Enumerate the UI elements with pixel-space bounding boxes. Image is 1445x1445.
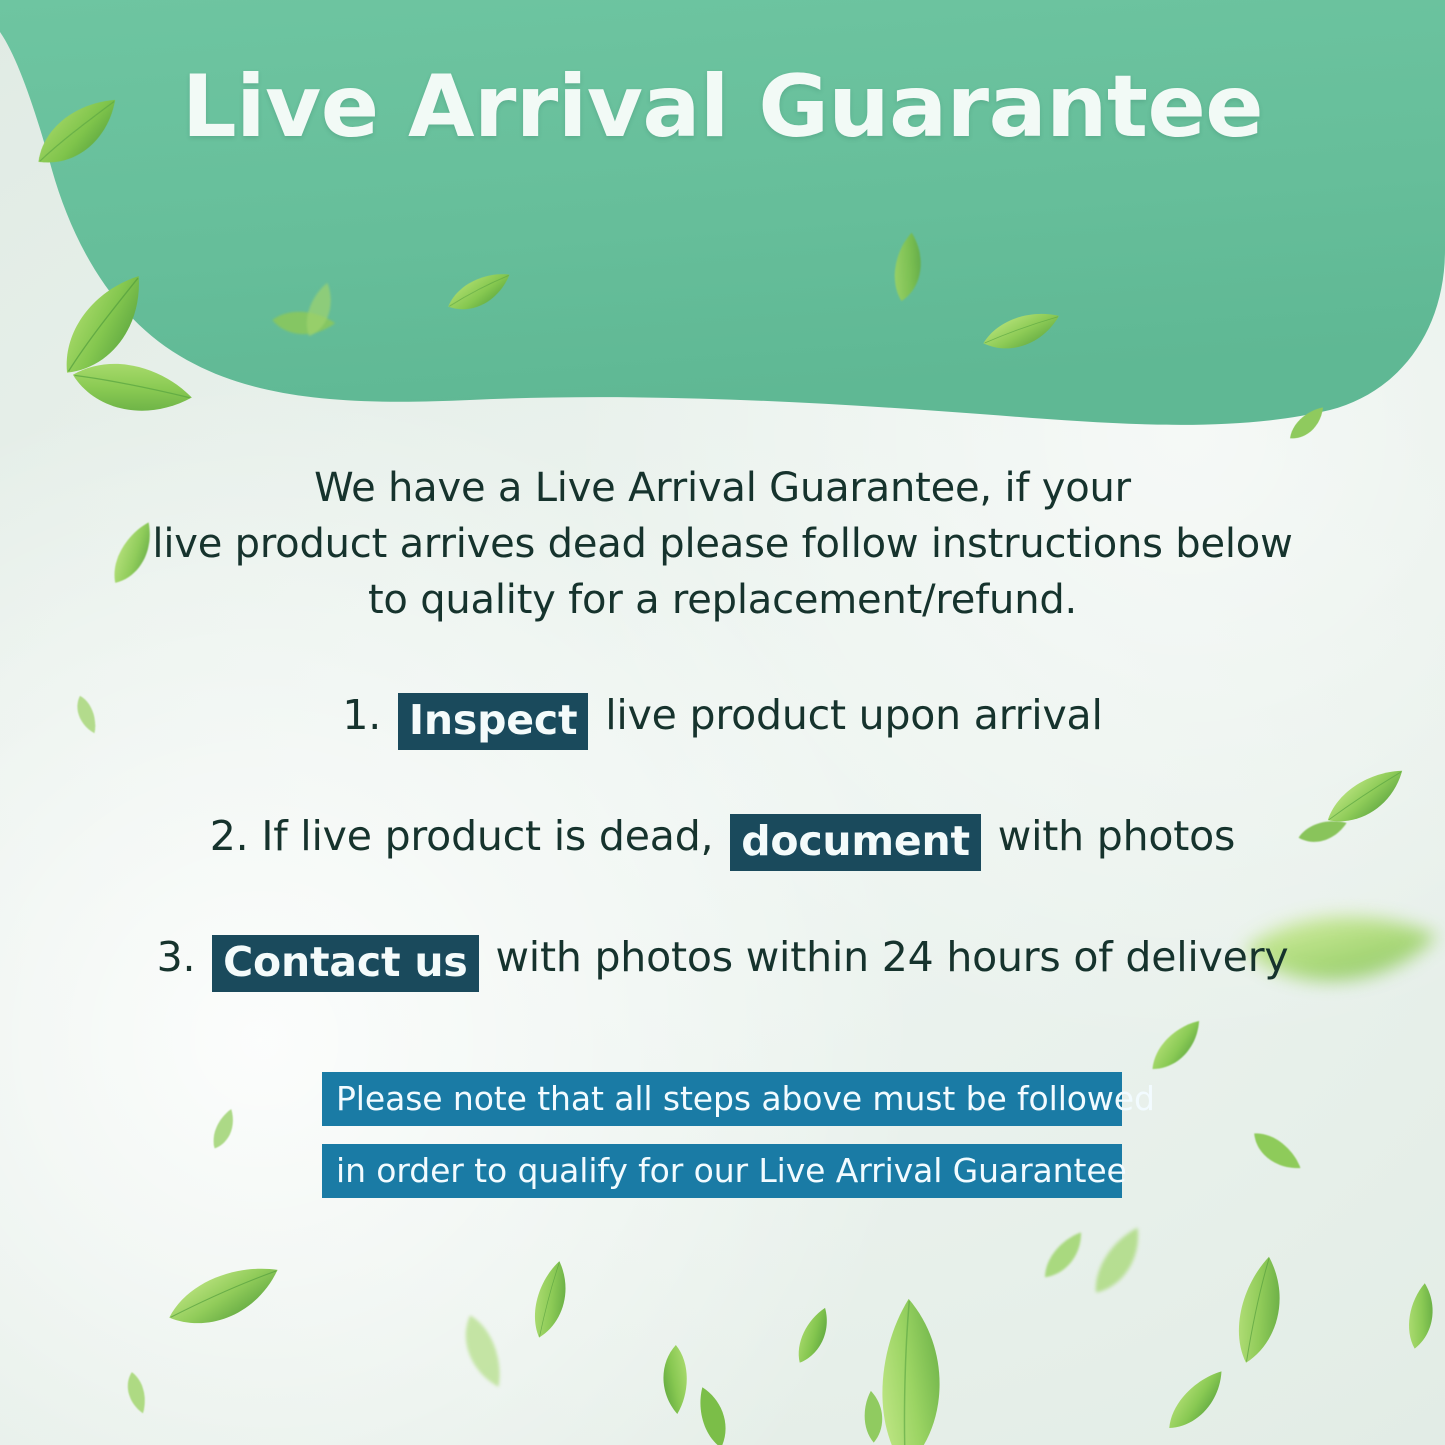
instruction-steps-list: 1. Inspect live product upon arrival 2. …: [0, 686, 1445, 987]
step-1-highlight-inspect: Inspect: [398, 693, 589, 750]
intro-line-3: to quality for a replacement/refund.: [0, 572, 1445, 628]
falling-leaf-icon: [857, 1291, 973, 1445]
falling-leaf-icon: [203, 1105, 247, 1155]
step-2-text-before: If live product is dead,: [261, 812, 713, 860]
falling-leaf-icon: [121, 1370, 149, 1416]
intro-paragraph: We have a Live Arrival Guarantee, if you…: [0, 460, 1445, 628]
step-2-text-after: with photos: [998, 812, 1235, 860]
step-3-text-after: with photos within 24 hours of delivery: [495, 933, 1288, 981]
intro-line-2: live product arrives dead please follow …: [0, 516, 1445, 572]
falling-leaf-icon: [1395, 1279, 1445, 1356]
falling-leaf-icon: [1078, 1220, 1162, 1307]
falling-leaf-icon: [858, 1389, 892, 1445]
falling-leaf-icon: [1215, 1249, 1311, 1375]
step-item-2: 2. If live product is dead, document wit…: [0, 807, 1445, 866]
falling-leaf-icon: [158, 1254, 292, 1346]
falling-leaf-icon: [1032, 1225, 1097, 1288]
falling-leaf-icon: [1154, 1362, 1242, 1444]
falling-leaf-icon: [1243, 1120, 1308, 1185]
step-item-3: 3. Contact us with photos within 24 hour…: [0, 928, 1445, 987]
falling-leaf-icon: [1139, 1012, 1218, 1084]
falling-leaf-icon: [693, 1382, 736, 1445]
falling-leaf-icon: [517, 1255, 590, 1348]
step-2-number: 2.: [210, 812, 249, 860]
step-2-highlight-document: document: [730, 814, 981, 871]
falling-leaf-icon: [451, 1309, 509, 1396]
page-title: Live Arrival Guarantee: [0, 62, 1445, 152]
note-bar-line-2: in order to qualify for our Live Arrival…: [322, 1144, 1122, 1198]
intro-line-1: We have a Live Arrival Guarantee, if you…: [0, 460, 1445, 516]
falling-leaf-icon: [649, 1341, 696, 1418]
step-3-highlight-contact-us: Contact us: [212, 935, 478, 992]
step-1-number: 1.: [342, 691, 381, 739]
falling-leaf-icon: [784, 1302, 846, 1373]
step-item-1: 1. Inspect live product upon arrival: [0, 686, 1445, 745]
step-3-number: 3.: [157, 933, 196, 981]
note-bar-line-1: Please note that all steps above must be…: [322, 1072, 1122, 1126]
step-1-text-after: live product upon arrival: [605, 691, 1102, 739]
live-arrival-guarantee-poster: Live Arrival Guarantee We have a Live Ar…: [0, 0, 1445, 1445]
